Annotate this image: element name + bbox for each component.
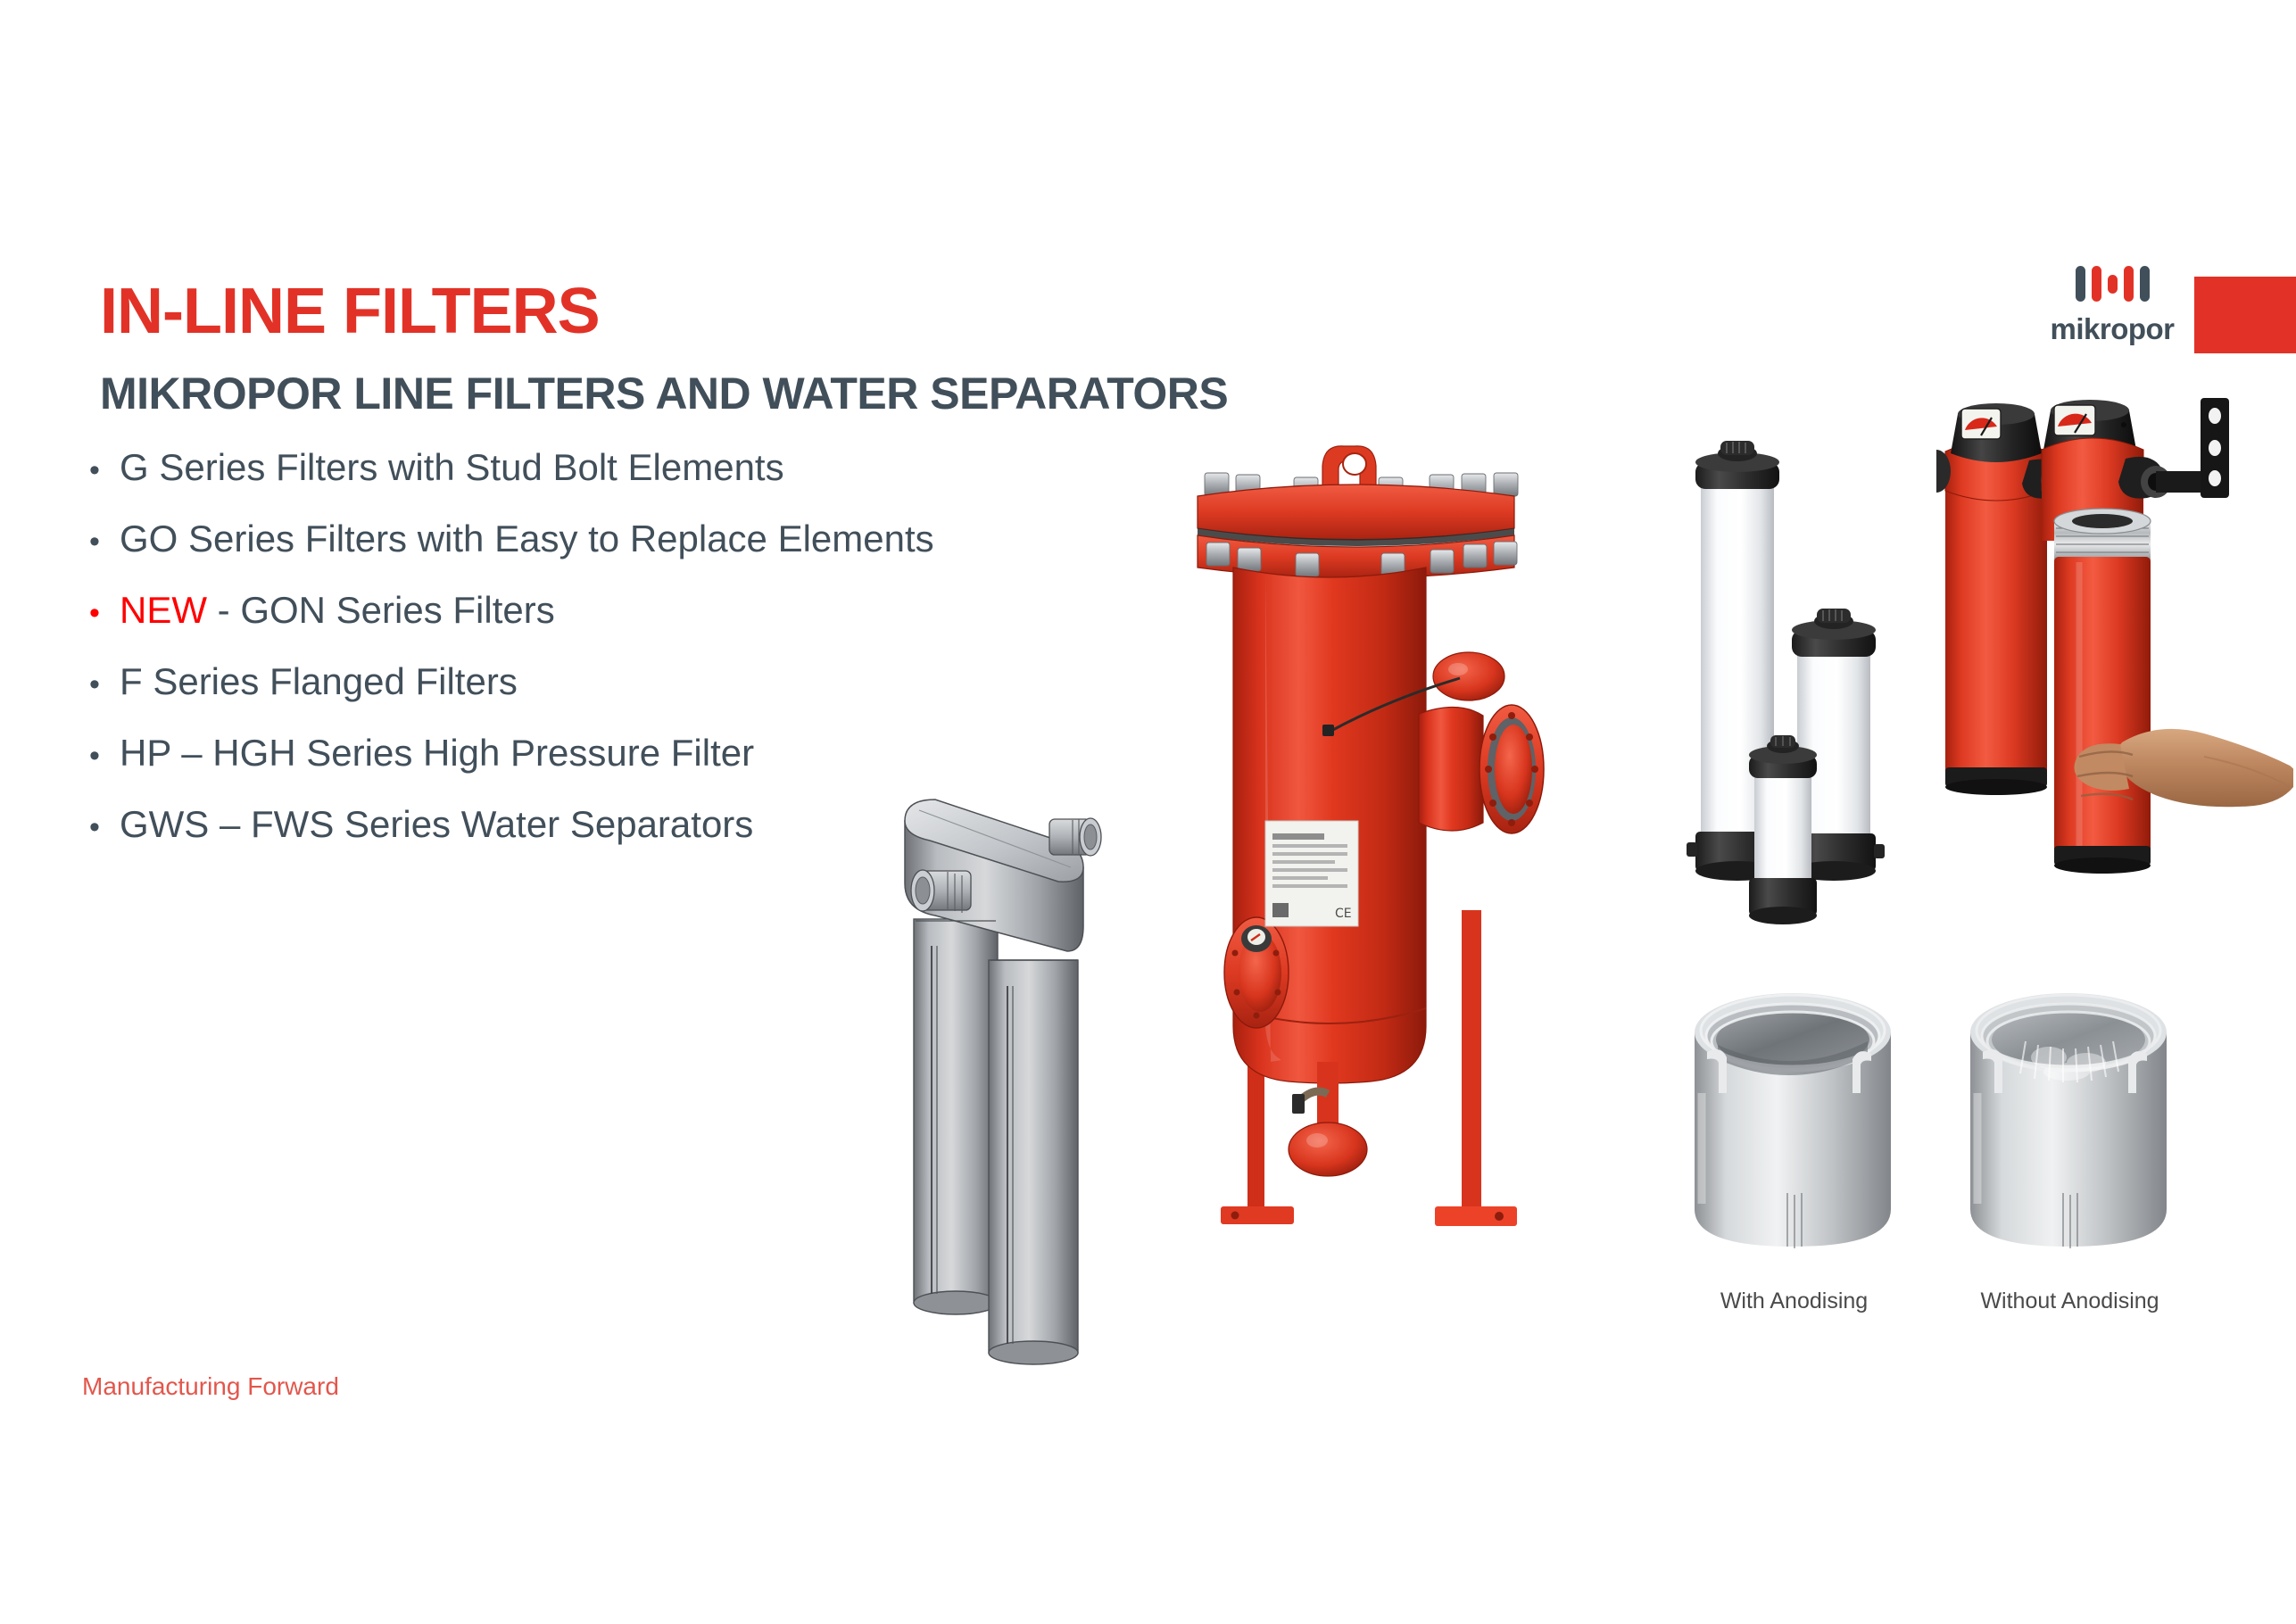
bullet-item: •HP – HGH Series High Pressure Filter: [89, 732, 982, 803]
bullet-marker-icon: •: [89, 598, 120, 628]
bullet-label: G Series Filters with Stud Bolt Elements: [120, 446, 784, 489]
logo-wordmark: mikropor: [2037, 312, 2187, 346]
mikropor-logo: mikropor: [2037, 264, 2187, 346]
bullet-label: F Series Flanged Filters: [120, 660, 518, 703]
svg-text:CE: CE: [1335, 907, 1352, 921]
bullet-item: •G Series Filters with Stud Bolt Element…: [89, 446, 982, 518]
bullet-item: •GO Series Filters with Easy to Replace …: [89, 518, 982, 589]
logo-bar-icon: [2124, 266, 2134, 302]
page-subtitle: MIKROPOR LINE FILTERS AND WATER SEPARATO…: [100, 368, 1228, 419]
bullet-label: HP – HGH Series High Pressure Filter: [120, 732, 754, 775]
bullet-marker-icon: •: [89, 741, 120, 771]
bullet-marker-icon: •: [89, 812, 120, 842]
bullet-label: GO Series Filters with Easy to Replace E…: [120, 518, 934, 560]
bullet-label: GWS – FWS Series Water Separators: [120, 803, 753, 846]
bullet-item: •GWS – FWS Series Water Separators: [89, 803, 982, 874]
feature-bullet-list: •G Series Filters with Stud Bolt Element…: [89, 446, 982, 874]
logo-bars-icon: [2037, 264, 2187, 303]
bullet-marker-icon: •: [89, 455, 120, 485]
bullet-marker-icon: •: [89, 669, 120, 700]
image-filter-elements: [1678, 393, 1972, 946]
slide-canvas: IN-LINE FILTERS MIKROPOR LINE FILTERS AN…: [0, 0, 2296, 1624]
header-red-block: [2194, 277, 2296, 353]
logo-bar-icon: [2092, 266, 2101, 302]
footer-tagline: Manufacturing Forward: [82, 1372, 339, 1401]
logo-bar-icon: [2140, 266, 2150, 302]
anodising-caption: With Anodising: [1680, 1288, 1908, 1314]
logo-bar-icon: [2076, 266, 2085, 302]
image-inline-filter-housings: [1936, 375, 2293, 964]
bullet-item: •F Series Flanged Filters: [89, 660, 982, 732]
image-anodising-comparison: With Anodising: [1651, 986, 2213, 1343]
bullet-label: NEW - GON Series Filters: [120, 589, 555, 632]
anodising-caption: Without Anodising: [1956, 1288, 2184, 1314]
anodising-item: With Anodising: [1680, 986, 1908, 1314]
logo-bar-icon: [2108, 275, 2118, 294]
anodising-item: Without Anodising: [1956, 986, 2184, 1314]
bullet-marker-icon: •: [89, 526, 120, 557]
image-water-separator: [892, 785, 1124, 1374]
bullet-highlight: NEW: [120, 589, 207, 631]
bullet-item: •NEW - GON Series Filters: [89, 589, 982, 660]
page-title: IN-LINE FILTERS: [100, 275, 600, 348]
image-flanged-filter-vessel: CE: [1151, 437, 1597, 1258]
